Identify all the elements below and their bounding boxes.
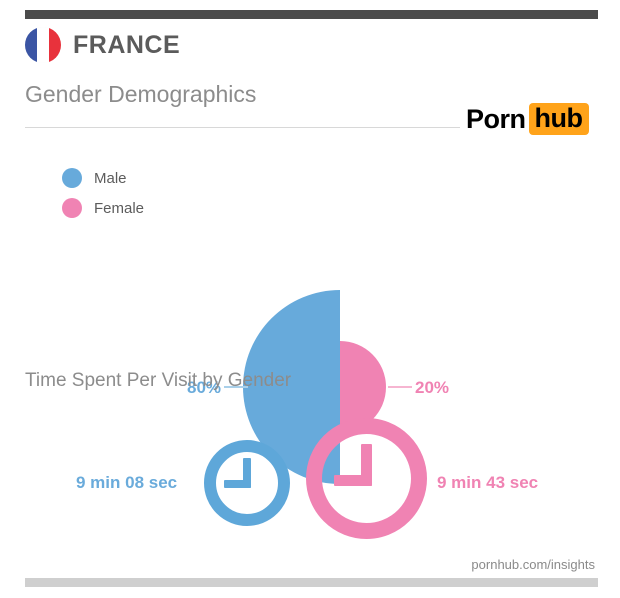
female-clock-hand-hour: [334, 475, 372, 486]
logo-text-porn: Porn: [466, 106, 529, 133]
male-time-label: 9 min 08 sec: [76, 474, 177, 491]
flag-stripe-white: [37, 27, 49, 63]
male-clock-hand-hour: [224, 480, 251, 488]
logo-text-hub: hub: [529, 103, 589, 135]
header-divider: [25, 127, 460, 128]
time-section-title: Time Spent Per Visit by Gender: [25, 370, 291, 392]
footer-url: pornhub.com/insights: [471, 557, 595, 572]
flag-stripe-blue: [25, 27, 37, 63]
female-time-label: 9 min 43 sec: [437, 474, 538, 491]
country-name: FRANCE: [73, 33, 180, 58]
infographic-page: FRANCE Gender Demographics Porn hub Male…: [0, 0, 620, 598]
bottom-rule: [25, 578, 598, 587]
country-header: FRANCE: [25, 27, 180, 63]
france-flag-icon: [25, 27, 61, 63]
female-percent-label: 20%: [415, 379, 449, 396]
pornhub-logo: Porn hub: [466, 103, 589, 135]
page-title: Gender Demographics: [25, 82, 256, 107]
female-leader-line: [388, 386, 412, 388]
gender-split-chart: 80% 20%: [0, 140, 620, 350]
flag-stripe-red: [49, 27, 61, 63]
top-rule: [25, 10, 598, 19]
